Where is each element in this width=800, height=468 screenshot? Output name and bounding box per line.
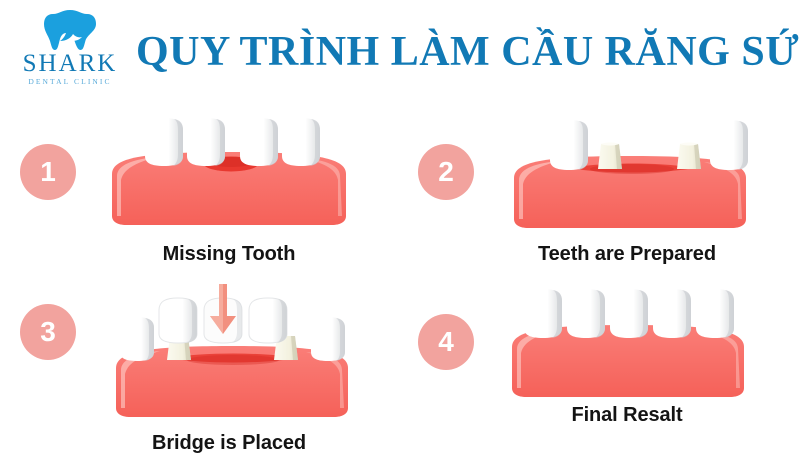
tooth (187, 118, 225, 166)
step-caption-3: Bridge is Placed (64, 432, 394, 455)
tooth-icon (42, 8, 98, 52)
illustration-bridge-placed (64, 284, 394, 429)
step-caption-1: Missing Tooth (64, 243, 394, 266)
tooth (696, 289, 734, 338)
tooth (240, 118, 278, 166)
illustration-teeth-prepared (462, 112, 792, 247)
tooth (120, 317, 154, 361)
brand-wordmark: SHARK (14, 51, 126, 77)
tooth (282, 118, 320, 166)
tooth (550, 120, 588, 170)
ridge-shadow (187, 355, 279, 365)
step-card-2: 2 (404, 112, 794, 292)
brand-tagline: DENTAL CLINIC (14, 78, 126, 86)
bridge-crown (159, 298, 197, 343)
step-card-1: 1 (6, 112, 396, 292)
step-caption-4: Final Resalt (462, 404, 792, 427)
tooth (524, 289, 562, 338)
illustration-final-result (462, 284, 792, 419)
tooth (710, 120, 748, 170)
illustration-missing-tooth (64, 112, 394, 247)
step-caption-2: Teeth are Prepared (462, 243, 792, 266)
page-header: SHARK DENTAL CLINIC QUY TRÌNH LÀM CẦU RĂ… (0, 0, 800, 108)
abutment-stump (677, 143, 701, 170)
tooth (653, 289, 691, 338)
abutment-stump (598, 143, 622, 170)
tooth (567, 289, 605, 338)
page-title: QUY TRÌNH LÀM CẦU RĂNG SỨ (136, 28, 784, 76)
step-card-4: 4 (404, 284, 794, 464)
tooth (311, 317, 345, 361)
step-card-3: 3 (6, 284, 396, 464)
tooth (145, 118, 183, 166)
tooth (610, 289, 648, 338)
brand-logo: SHARK DENTAL CLINIC (14, 8, 126, 94)
bridge-crown (249, 298, 287, 343)
